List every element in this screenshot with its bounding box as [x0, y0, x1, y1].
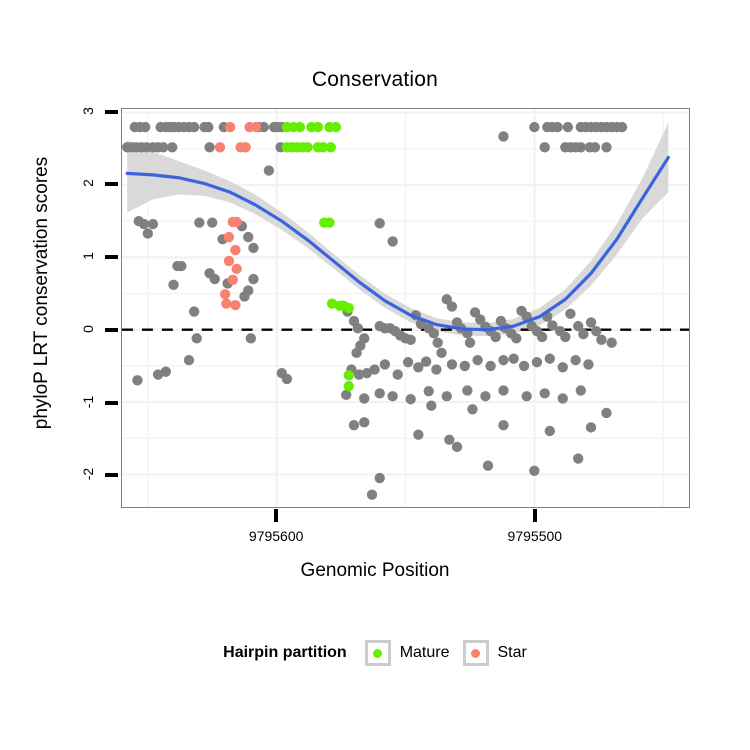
data-point: [148, 219, 158, 229]
y-axis-title: phyloP LRT conservation scores: [31, 138, 53, 448]
data-point: [529, 122, 539, 132]
y-tick-mark: [105, 328, 118, 332]
data-point: [248, 243, 258, 253]
chart-title: Conservation: [0, 68, 750, 92]
plot-panel: [121, 108, 690, 508]
data-point: [246, 333, 256, 343]
data-point: [498, 385, 508, 395]
data-point: [240, 142, 250, 152]
data-point: [203, 122, 213, 132]
data-point: [232, 217, 242, 227]
data-point: [331, 122, 341, 132]
data-point: [168, 280, 178, 290]
data-point: [433, 338, 443, 348]
data-point: [359, 393, 369, 403]
data-point: [302, 142, 312, 152]
data-point: [375, 473, 385, 483]
legend-title: Hairpin partition: [223, 644, 347, 662]
data-point: [230, 245, 240, 255]
data-point: [586, 317, 596, 327]
data-point: [344, 381, 354, 391]
data-point: [532, 357, 542, 367]
data-point: [447, 359, 457, 369]
data-point: [158, 142, 168, 152]
data-point: [558, 362, 568, 372]
data-point: [248, 274, 258, 284]
x-tick-mark: [533, 509, 537, 522]
data-point: [406, 394, 416, 404]
data-point: [452, 442, 462, 452]
y-tick-mark: [105, 110, 118, 114]
data-point: [511, 333, 521, 343]
data-point: [161, 367, 171, 377]
data-point: [558, 393, 568, 403]
data-point: [424, 386, 434, 396]
legend-key: [365, 640, 391, 666]
data-point: [353, 323, 363, 333]
data-point: [573, 453, 583, 463]
data-point: [140, 122, 150, 132]
x-tick-mark: [274, 509, 278, 522]
data-point: [210, 274, 220, 284]
y-tick-label: 2: [80, 170, 96, 196]
data-point: [429, 328, 439, 338]
data-point: [444, 435, 454, 445]
x-tick-label: 9795500: [475, 528, 595, 544]
data-point: [576, 142, 586, 152]
y-tick-mark: [105, 255, 118, 259]
legend-item-mature[interactable]: Mature: [365, 640, 450, 666]
data-point: [189, 122, 199, 132]
y-tick-mark: [105, 473, 118, 477]
data-point: [545, 353, 555, 363]
data-point: [521, 391, 531, 401]
data-point: [480, 391, 490, 401]
data-point: [406, 335, 416, 345]
data-point: [498, 420, 508, 430]
data-point: [467, 404, 477, 414]
data-point: [225, 122, 235, 132]
legend-label: Star: [498, 644, 527, 662]
data-point: [351, 348, 361, 358]
data-point: [228, 275, 238, 285]
data-point: [590, 142, 600, 152]
data-point: [601, 142, 611, 152]
data-point: [367, 489, 377, 499]
data-point: [529, 466, 539, 476]
data-point: [224, 256, 234, 266]
data-point: [387, 236, 397, 246]
data-point: [491, 332, 501, 342]
data-point: [326, 142, 336, 152]
legend-dot-icon: [373, 649, 382, 658]
data-point: [498, 131, 508, 141]
legend-label: Mature: [400, 644, 450, 662]
data-point: [462, 385, 472, 395]
data-point: [483, 461, 493, 471]
data-point: [560, 332, 570, 342]
data-point: [204, 142, 214, 152]
data-point: [601, 408, 611, 418]
data-point: [324, 217, 334, 227]
data-point: [192, 333, 202, 343]
data-point: [576, 385, 586, 395]
legend-items: MatureStar: [365, 640, 527, 666]
x-tick-label: 9795600: [216, 528, 336, 544]
data-point: [472, 355, 482, 365]
data-point: [586, 422, 596, 432]
data-point: [426, 401, 436, 411]
y-tick-label: 1: [80, 243, 96, 269]
data-point: [313, 122, 323, 132]
legend-dot-icon: [471, 649, 480, 658]
data-point: [485, 361, 495, 371]
data-point: [596, 335, 606, 345]
data-point: [552, 122, 562, 132]
data-point: [344, 370, 354, 380]
data-point: [232, 264, 242, 274]
data-point: [230, 300, 240, 310]
data-point: [540, 388, 550, 398]
data-point: [264, 165, 274, 175]
y-tick-label: -2: [80, 461, 96, 487]
data-point: [369, 364, 379, 374]
data-point: [465, 338, 475, 348]
x-axis-title: Genomic Position: [0, 560, 750, 582]
data-point: [570, 355, 580, 365]
data-point: [617, 122, 627, 132]
data-point: [387, 391, 397, 401]
confidence-band: [127, 123, 668, 337]
data-point: [498, 355, 508, 365]
legend-item-star[interactable]: Star: [463, 640, 527, 666]
data-point: [413, 429, 423, 439]
data-point: [295, 122, 305, 132]
y-tick-mark: [105, 182, 118, 186]
legend: Hairpin partition MatureStar: [0, 640, 750, 666]
data-point: [282, 374, 292, 384]
data-point: [375, 218, 385, 228]
data-point: [583, 359, 593, 369]
plot-canvas: [122, 109, 689, 507]
data-point: [565, 309, 575, 319]
data-point: [509, 353, 519, 363]
data-point: [442, 391, 452, 401]
data-point: [578, 329, 588, 339]
data-point: [447, 301, 457, 311]
data-point: [380, 359, 390, 369]
data-point: [375, 388, 385, 398]
data-point: [349, 420, 359, 430]
data-point: [243, 232, 253, 242]
data-point: [359, 417, 369, 427]
data-point: [606, 338, 616, 348]
data-point: [239, 291, 249, 301]
data-point: [436, 348, 446, 358]
data-point: [344, 303, 354, 313]
data-point: [393, 369, 403, 379]
data-point: [403, 357, 413, 367]
data-point: [545, 426, 555, 436]
data-point: [143, 228, 153, 238]
data-point: [189, 306, 199, 316]
data-point: [591, 326, 601, 336]
legend-key: [463, 640, 489, 666]
data-point: [184, 355, 194, 365]
y-tick-label: -1: [80, 389, 96, 415]
data-point: [215, 142, 225, 152]
data-point: [139, 219, 149, 229]
y-tick-mark: [105, 401, 118, 405]
data-point: [167, 142, 177, 152]
data-point: [220, 289, 230, 299]
data-point: [132, 375, 142, 385]
y-tick-label: 0: [80, 316, 96, 342]
data-point: [431, 364, 441, 374]
chart-root: Conservation phyloP LRT conservation sco…: [0, 0, 750, 750]
data-point: [172, 261, 182, 271]
data-point: [540, 142, 550, 152]
data-point: [537, 332, 547, 342]
data-point: [221, 298, 231, 308]
data-point: [421, 356, 431, 366]
data-point: [563, 122, 573, 132]
data-point: [460, 361, 470, 371]
data-point: [341, 390, 351, 400]
data-point: [224, 232, 234, 242]
data-point: [194, 217, 204, 227]
data-point: [207, 217, 217, 227]
data-point: [519, 361, 529, 371]
data-point: [251, 122, 261, 132]
y-tick-label: 3: [80, 98, 96, 124]
